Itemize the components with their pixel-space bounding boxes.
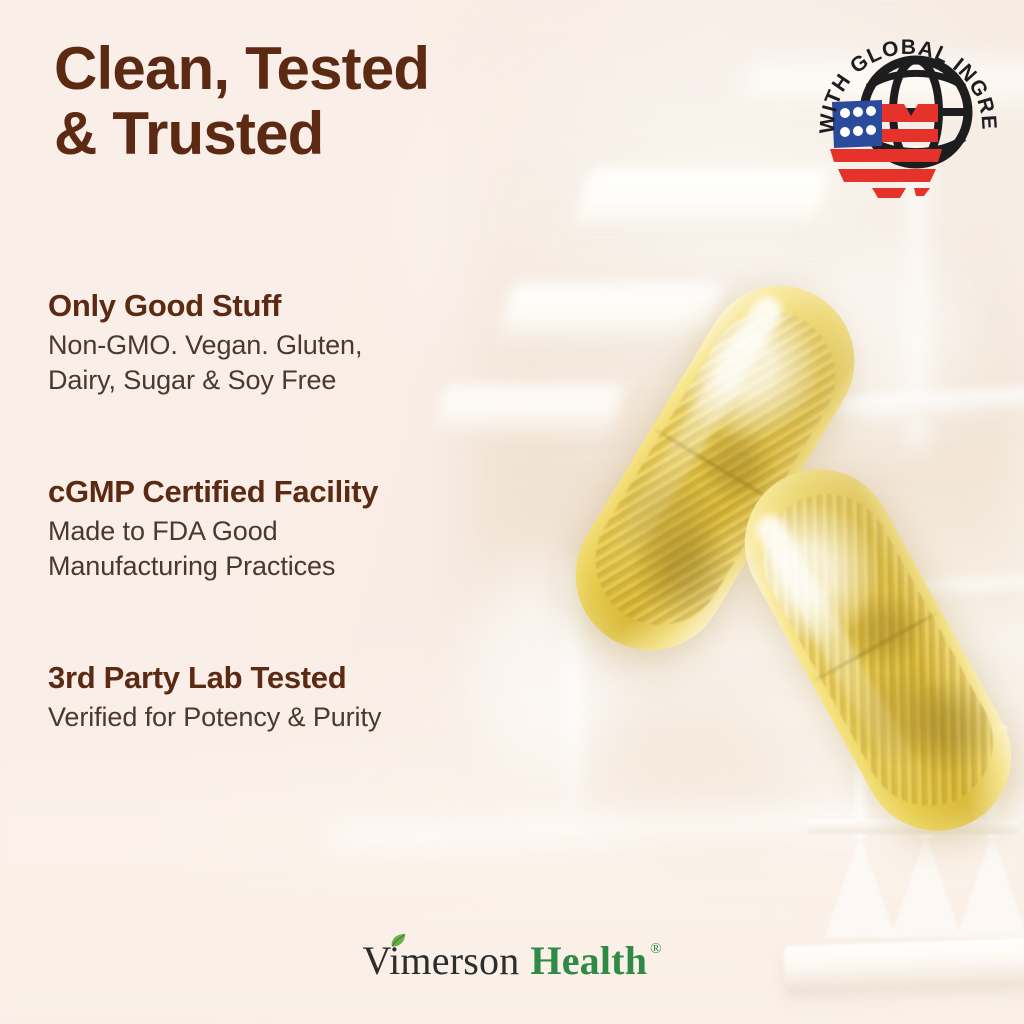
- feature-block-only-good-stuff: Only Good Stuff Non-GMO. Vegan. Gluten, …: [48, 288, 568, 398]
- logo-word-vimerson: Vimerson: [362, 937, 519, 984]
- logo-word-health: Health: [530, 937, 647, 984]
- registered-trademark-symbol: ®: [650, 941, 661, 958]
- logo-vimerson-text: Vimerson: [362, 938, 519, 983]
- brand-logo: Vimerson Health ®: [0, 937, 1024, 984]
- page-title: Clean, Tested & Trusted: [54, 36, 429, 167]
- feature-description: Made to FDA Good Manufacturing Practices: [48, 514, 568, 584]
- feature-title: cGMP Certified Facility: [48, 474, 568, 510]
- feature-description: Non-GMO. Vegan. Gluten, Dairy, Sugar & S…: [48, 328, 568, 398]
- feature-description: Verified for Potency & Purity: [48, 700, 568, 735]
- leaf-icon: [389, 933, 407, 951]
- marketing-copy: Clean, Tested & Trusted Only Good Stuff …: [0, 0, 1024, 1024]
- feature-block-3rd-party-lab-tested: 3rd Party Lab Tested Verified for Potenc…: [48, 660, 568, 735]
- feature-title: 3rd Party Lab Tested: [48, 660, 568, 696]
- feature-block-cgmp-certified-facility: cGMP Certified Facility Made to FDA Good…: [48, 474, 568, 584]
- feature-title: Only Good Stuff: [48, 288, 568, 324]
